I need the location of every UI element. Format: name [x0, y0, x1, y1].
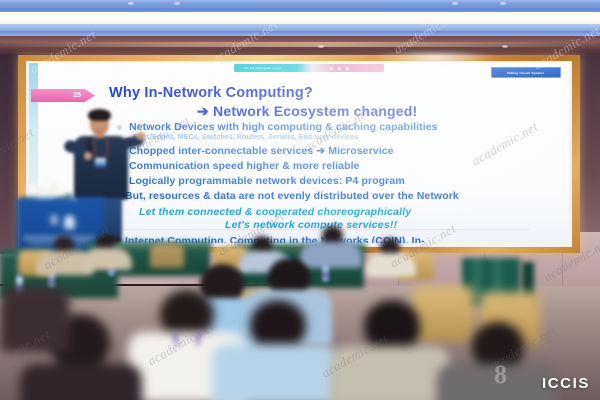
banner-emblem-icon	[64, 215, 75, 229]
iccis-mark-icon: 8	[494, 360, 538, 394]
slide-number: 25	[73, 92, 81, 99]
audience-member-front-8	[0, 288, 70, 352]
iccis-logo: ICCIS	[542, 375, 590, 392]
slide-bullet-2: Chopped inter-connectable services ➔ Mic…	[129, 145, 394, 157]
audience-member-front-6	[330, 300, 450, 400]
glasses-icon	[91, 120, 108, 125]
slide-title: Why In-Network Computing?	[109, 85, 313, 101]
slide-subtitle-row: ➔ Network Ecosystem changed!	[197, 103, 417, 120]
arrow-glyph: ➔	[197, 103, 209, 119]
banner-edition-number: 8	[50, 212, 58, 229]
slide-number-badge: 25	[31, 89, 95, 102]
audience-member-front-4	[212, 300, 338, 400]
slide-emphasis-1: Let them connected & cooperated choreogr…	[139, 206, 411, 218]
speaker-badge-label: Talking Clouds Speaker	[507, 71, 544, 75]
presenter-right-hand	[136, 132, 145, 140]
ceiling-downlights	[0, 0, 600, 12]
audience-lanyard	[174, 332, 200, 346]
banner-logo: 8	[50, 212, 76, 232]
presenter-left-hand	[84, 152, 92, 160]
presenter-name-badge	[95, 158, 106, 167]
screen-share-toolbar[interactable]: You are sharing the screen	[234, 64, 384, 72]
audience-member-mid-5	[82, 234, 132, 268]
slide-subtitle: Network Ecosystem changed!	[213, 103, 417, 119]
slide-bullet-3: Communication speed higher & more reliab…	[129, 160, 360, 172]
speaker-badge: Talking Clouds Speaker	[491, 67, 561, 78]
slide-bullet-4: Logically programmable network devices: …	[129, 175, 405, 187]
conference-photo: You are sharing the screen Talking Cloud…	[0, 0, 600, 400]
presenter-lanyard	[94, 138, 108, 158]
share-status-text: You are sharing the screen	[244, 66, 281, 70]
frame-light-glare	[370, 50, 500, 66]
audience-member-mid-4	[366, 238, 416, 274]
slide-bullet-1: Network Devices with high computing & ca…	[129, 121, 438, 133]
slide-sub-bullet: Fogs/Edges, MECs, Switches, Routers, Ser…	[133, 134, 358, 141]
slide-bullet-5: But, resources & data are not evenly dis…	[125, 190, 459, 202]
